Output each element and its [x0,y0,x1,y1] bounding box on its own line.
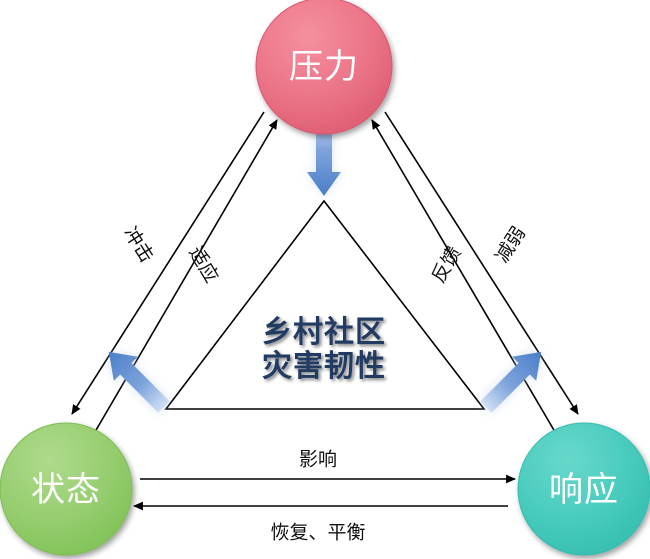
edge-label-influence: 影响 [299,449,337,471]
center-label-line1: 乡村社区 [262,316,386,349]
edge-label-impact: 冲击 [119,223,158,267]
edge-label-weakening: 减弱 [491,223,530,267]
edge-recovery-balance: 恢复、平衡 [134,506,508,544]
node-state[interactable]: 状态 [0,423,132,555]
edge-impact: 冲击 [72,112,264,414]
node-response[interactable]: 响应 [518,423,650,555]
node-pressure[interactable]: 压力 [256,0,392,134]
edge-adaptation: 适应 [92,120,277,437]
psr-resilience-diagram: 冲击 适应 减弱 反馈 影响 [0,0,650,559]
edge-label-recovery-balance: 恢复、平衡 [270,522,365,544]
edge-label-feedback: 反馈 [427,243,465,287]
edge-feedback: 反馈 [372,120,558,437]
node-state-label: 状态 [31,471,101,509]
diagram-canvas: 冲击 适应 减弱 反馈 影响 [0,0,650,559]
node-response-label: 响应 [549,471,619,509]
center-label: 乡村社区 灾害韧性 [262,316,386,383]
edge-influence: 影响 [140,449,515,480]
node-pressure-label: 压力 [289,48,359,86]
center-label-line2: 灾害韧性 [262,349,386,383]
edge-weakening: 减弱 [385,112,578,414]
edge-label-adaptation: 适应 [184,243,222,287]
